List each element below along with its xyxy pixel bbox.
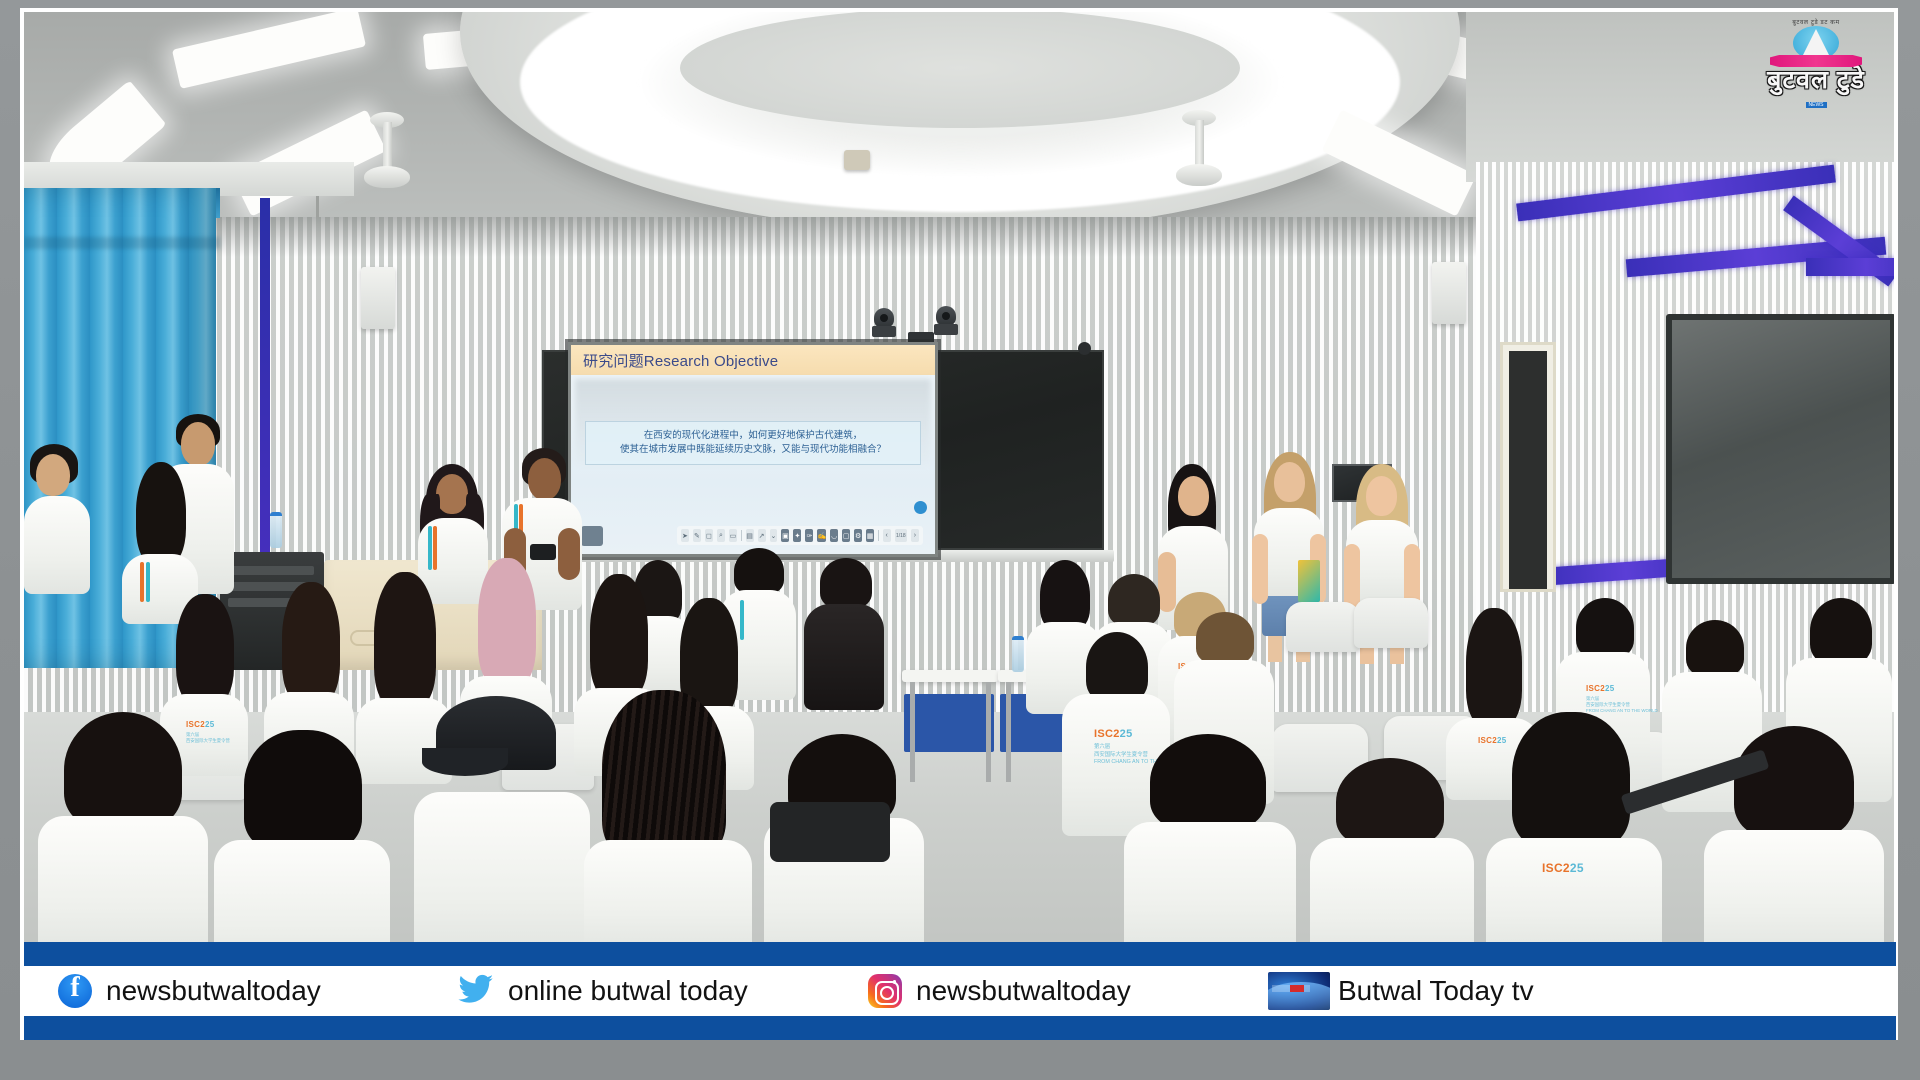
twitter-icon: [458, 974, 494, 1009]
slide-question-box: 在西安的现代化进程中，如何更好地保护古代建筑， 使其在城市发展中既能延续历史文脉…: [585, 421, 921, 465]
audience-member-front: [214, 730, 390, 942]
instagram-handle: newsbutwaltoday: [916, 975, 1131, 1007]
export-icon[interactable]: ↗: [758, 529, 766, 542]
chair: [1286, 602, 1360, 652]
ceiling-fixture-center: [680, 12, 1240, 128]
presentation-toolbar[interactable]: ➤ ✎ ◻ ⌕ ▭ ▤ ↗ ⌄ ▣ ✦ ✑ ✍ ◡ ▢ ⚙ ▦: [677, 526, 923, 545]
audience-member-front: [1124, 734, 1296, 942]
ceiling-light-panel: [172, 12, 366, 89]
ptz-camera: [932, 306, 960, 336]
facebook-icon: [58, 974, 92, 1008]
slide-body: 在西安的现代化进程中，如何更好地保护古代建筑， 使其在城市发展中既能延续历史文脉…: [571, 375, 935, 554]
lasso-icon[interactable]: ◡: [830, 529, 838, 542]
slide-question-line-1: 在西安的现代化进程中，如何更好地保护古代建筑，: [592, 429, 914, 443]
ceiling-fan: [364, 122, 410, 192]
social-bar-top-stripe: [24, 942, 1896, 966]
slide-title: 研究问题Research Objective: [571, 345, 935, 375]
prev-icon[interactable]: ‹: [883, 529, 891, 542]
toolbar-separator: [741, 530, 742, 541]
annotate-icon[interactable]: ✦: [793, 529, 801, 542]
slide-icon[interactable]: ▣: [781, 529, 789, 542]
audience-member-front: [1704, 726, 1884, 942]
desk-leg: [1006, 682, 1011, 782]
apps-icon[interactable]: ▦: [866, 529, 874, 542]
presentation-screen[interactable]: 研究问题Research Objective 在西安的现代化进程中，如何更好地保…: [568, 342, 938, 557]
watermark-subtitle: NEWS: [1806, 102, 1827, 108]
butwal-today-tv-logo: [1268, 972, 1330, 1010]
watermark-emblem-icon: [1793, 26, 1839, 60]
wall-display-screen[interactable]: [1666, 314, 1896, 584]
watermark-ribbon: [1770, 55, 1862, 67]
screenshot-root: 研究问题Research Objective 在西安的现代化进程中，如何更好地保…: [0, 0, 1920, 1080]
social-item-tv[interactable]: Butwal Today tv: [1268, 972, 1534, 1010]
audience-member-front: [38, 712, 208, 942]
instagram-icon: [868, 974, 902, 1008]
social-bar-content: newsbutwaltoday online butwal today news…: [24, 966, 1896, 1016]
highlight-icon[interactable]: ✑: [805, 529, 813, 542]
social-item-facebook[interactable]: newsbutwaltoday: [58, 974, 458, 1008]
audience-member-front: ISC225: [1486, 712, 1662, 942]
water-bottle: [270, 512, 282, 548]
smoke-detector-icon: [844, 150, 870, 170]
desk: [902, 670, 998, 682]
watermark-arc-text: बुटवल टुडे डट कम: [1752, 18, 1880, 26]
doorway[interactable]: [1500, 342, 1556, 592]
page-indicator: 1/18: [895, 529, 907, 542]
wall-accent-strip: [1806, 258, 1896, 276]
watermark-logo: बुटवल टुडे डट कम बुटवल टुडे NEWS: [1752, 18, 1880, 102]
facebook-handle: newsbutwaltoday: [106, 975, 321, 1007]
audience-member: [802, 558, 886, 708]
wall-speaker: [1432, 262, 1466, 324]
slide-question-line-2: 使其在城市发展中既能延续历史文脉，又能与现代功能相融合？: [592, 443, 914, 457]
desk-leg: [986, 682, 991, 782]
social-item-twitter[interactable]: online butwal today: [458, 974, 868, 1009]
next-icon[interactable]: ›: [911, 529, 919, 542]
social-bar-bottom-stripe: [24, 1016, 1896, 1040]
capture-icon[interactable]: ▢: [842, 529, 850, 542]
social-item-instagram[interactable]: newsbutwaltoday: [868, 974, 1268, 1008]
backpack: [770, 802, 890, 862]
pen-icon[interactable]: ✎: [693, 529, 701, 542]
audience-member-front: [1310, 758, 1474, 942]
watermark-title: बुटवल टुडे: [1752, 68, 1880, 93]
water-bottle: [1012, 636, 1024, 672]
pointer-icon[interactable]: ➤: [681, 529, 689, 542]
settings-icon[interactable]: ⚙: [854, 529, 862, 542]
wall-speaker: [361, 267, 395, 329]
audience-member-front-cap: [414, 696, 590, 942]
chair: [1354, 598, 1428, 648]
marker-icon[interactable]: ✍: [817, 529, 826, 542]
slide-logo-icon: [914, 501, 927, 514]
page-icon[interactable]: ▤: [746, 529, 754, 542]
ceiling-speaker-icon: [1078, 342, 1091, 355]
attendee-glasses-left: [24, 444, 94, 594]
social-media-bar: newsbutwaltoday online butwal today news…: [24, 942, 1896, 1040]
news-photo: 研究问题Research Objective 在西安的现代化进程中，如何更好地保…: [24, 12, 1896, 942]
shirt-graphic: [1298, 560, 1320, 602]
ptz-camera: [870, 308, 898, 338]
shape-icon[interactable]: ▭: [729, 529, 737, 542]
chevron-down-icon[interactable]: ⌄: [770, 529, 778, 542]
audience-member-front-braids: [584, 690, 752, 942]
magnifier-icon[interactable]: ⌕: [717, 529, 725, 542]
tv-channel-name: Butwal Today tv: [1338, 975, 1534, 1007]
twitter-handle: online butwal today: [508, 975, 748, 1007]
curtain-fold: [24, 237, 220, 249]
ceiling-fan: [1176, 120, 1222, 190]
eraser-icon[interactable]: ◻: [705, 529, 713, 542]
toolbar-separator: [878, 530, 879, 541]
